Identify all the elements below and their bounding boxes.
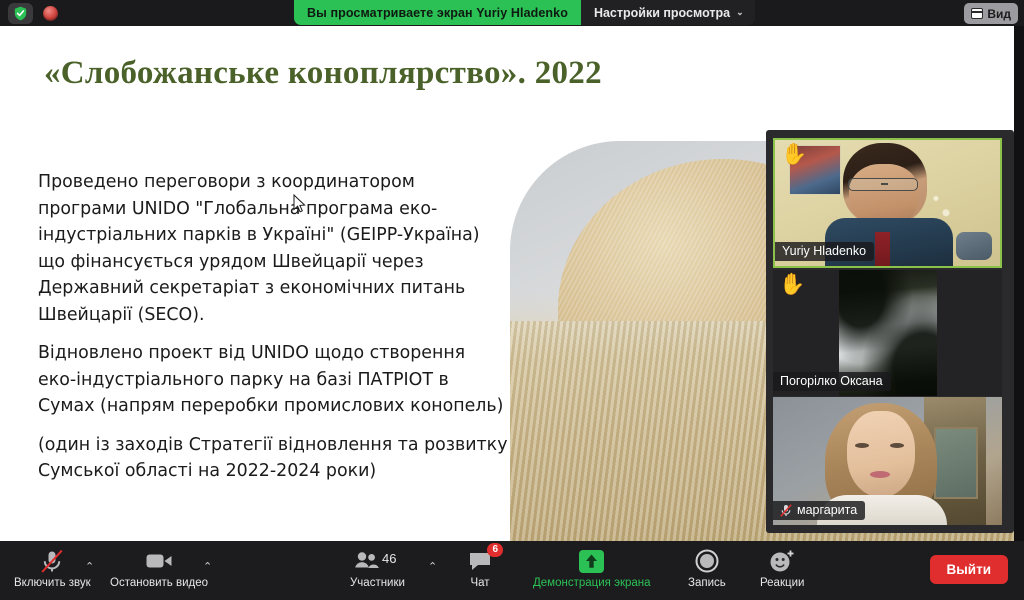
participant-name-label: Yuriy Hladenko	[775, 242, 874, 261]
chat-bubble-icon: 6	[468, 548, 492, 574]
participant-tile-pohorilko-oksana[interactable]: ✋ Погорілко Оксана	[773, 270, 1002, 396]
background-plant	[925, 184, 967, 232]
participant-necktie	[875, 232, 890, 268]
participants-options-chevron-up-icon[interactable]: ⌃	[428, 560, 437, 573]
view-settings-label: Настройки просмотра	[594, 6, 730, 20]
participant-face	[849, 164, 919, 226]
chevron-down-icon: ⌄	[736, 7, 744, 18]
camera-glyph	[146, 552, 173, 570]
raised-hand-icon: ✋	[781, 144, 807, 165]
participant-eye-right	[890, 443, 904, 448]
video-options-chevron-up-icon[interactable]: ⌃	[203, 560, 212, 573]
meeting-toolbar: Включить звук ⌃ Остановить видео ⌃ 46	[0, 541, 1024, 600]
microphone-muted-icon	[780, 504, 792, 517]
share-screen-button[interactable]: Демонстрация экрана	[533, 548, 651, 589]
eyeglasses-icon	[848, 178, 918, 191]
share-screen-glyph	[578, 549, 605, 574]
leave-meeting-button[interactable]: Выйти	[930, 555, 1009, 584]
smiley-plus-icon	[769, 548, 795, 574]
slide-paragraph-1: Проведено переговори з координатором про…	[38, 169, 508, 328]
svg-text:46: 46	[382, 551, 396, 566]
grid-view-icon	[971, 8, 983, 19]
stop-video-button[interactable]: Остановить видео	[110, 548, 208, 589]
view-button[interactable]: Вид	[964, 3, 1018, 24]
record-label: Запись	[688, 577, 726, 589]
people-count-glyph: 46	[354, 551, 400, 571]
participant-name-label: Погорілко Оксана	[773, 372, 891, 391]
reactions-button[interactable]: Реакции	[760, 548, 804, 589]
people-icon: 46	[354, 548, 400, 574]
chat-button[interactable]: 6 Чат	[468, 548, 492, 589]
audio-options-chevron-up-icon[interactable]: ⌃	[85, 560, 94, 573]
mic-muted-glyph	[780, 504, 792, 517]
participant-face	[847, 411, 915, 497]
participant-name: маргарита	[797, 503, 857, 517]
participant-eye-left	[855, 443, 869, 448]
slide-body-text: Проведено переговори з координатором про…	[38, 169, 508, 485]
record-circle-icon	[695, 548, 719, 574]
screen-share-banner: Вы просматриваете экран Yuriy Hladenko Н…	[294, 0, 755, 25]
participants-label: Участники	[350, 577, 405, 589]
participant-name: Погорілко Оксана	[780, 374, 883, 388]
chat-label: Чат	[470, 577, 489, 589]
record-glyph	[695, 549, 719, 573]
background-object	[956, 232, 992, 260]
share-banner-text: Вы просматриваете экран Yuriy Hladenko	[294, 0, 581, 25]
background-panel	[934, 427, 978, 499]
slide-paragraph-3: (один із заходів Стратегії відновлення т…	[38, 432, 508, 485]
recording-dot-icon[interactable]	[43, 6, 58, 21]
chat-unread-badge: 6	[487, 543, 503, 557]
top-left-icon-group	[8, 3, 58, 24]
participants-button[interactable]: 46 Участники	[350, 548, 405, 589]
security-shield-icon[interactable]	[8, 3, 33, 24]
participant-video-rail: ✋ Yuriy Hladenko ✋ Погорілко Оксана	[766, 130, 1014, 533]
participant-tile-marharyta[interactable]: маргарита	[773, 397, 1002, 525]
shield-glyph	[14, 6, 27, 21]
participant-lips	[870, 471, 890, 478]
stop-video-label: Остановить видео	[110, 577, 208, 589]
participant-tile-yuriy-hladenko[interactable]: ✋ Yuriy Hladenko	[773, 138, 1002, 268]
participant-name: Yuriy Hladenko	[782, 244, 866, 258]
top-bar: Вы просматриваете экран Yuriy Hladenko Н…	[0, 0, 1024, 26]
unmute-audio-button[interactable]: Включить звук	[14, 548, 91, 589]
raised-hand-icon: ✋	[779, 274, 805, 295]
mic-muted-glyph	[40, 549, 64, 574]
slide-title: «Слобожанське коноплярство». 2022	[44, 55, 602, 92]
microphone-muted-icon	[40, 548, 64, 574]
zoom-meeting-window: Вы просматриваете экран Yuriy Hladenko Н…	[0, 0, 1024, 600]
participant-name-label: маргарита	[773, 501, 865, 520]
reactions-label: Реакции	[760, 577, 804, 589]
mouse-cursor	[293, 194, 306, 213]
share-screen-label: Демонстрация экрана	[533, 577, 651, 589]
camera-icon	[146, 548, 173, 574]
view-button-label: Вид	[987, 7, 1011, 21]
unmute-audio-label: Включить звук	[14, 577, 91, 589]
share-screen-up-arrow-icon	[578, 548, 605, 574]
smiley-plus-glyph	[769, 549, 795, 573]
record-button[interactable]: Запись	[688, 548, 726, 589]
slide-paragraph-2: Відновлено проект від UNIDO щодо створен…	[38, 340, 508, 420]
view-settings-button[interactable]: Настройки просмотра ⌄	[581, 0, 755, 25]
